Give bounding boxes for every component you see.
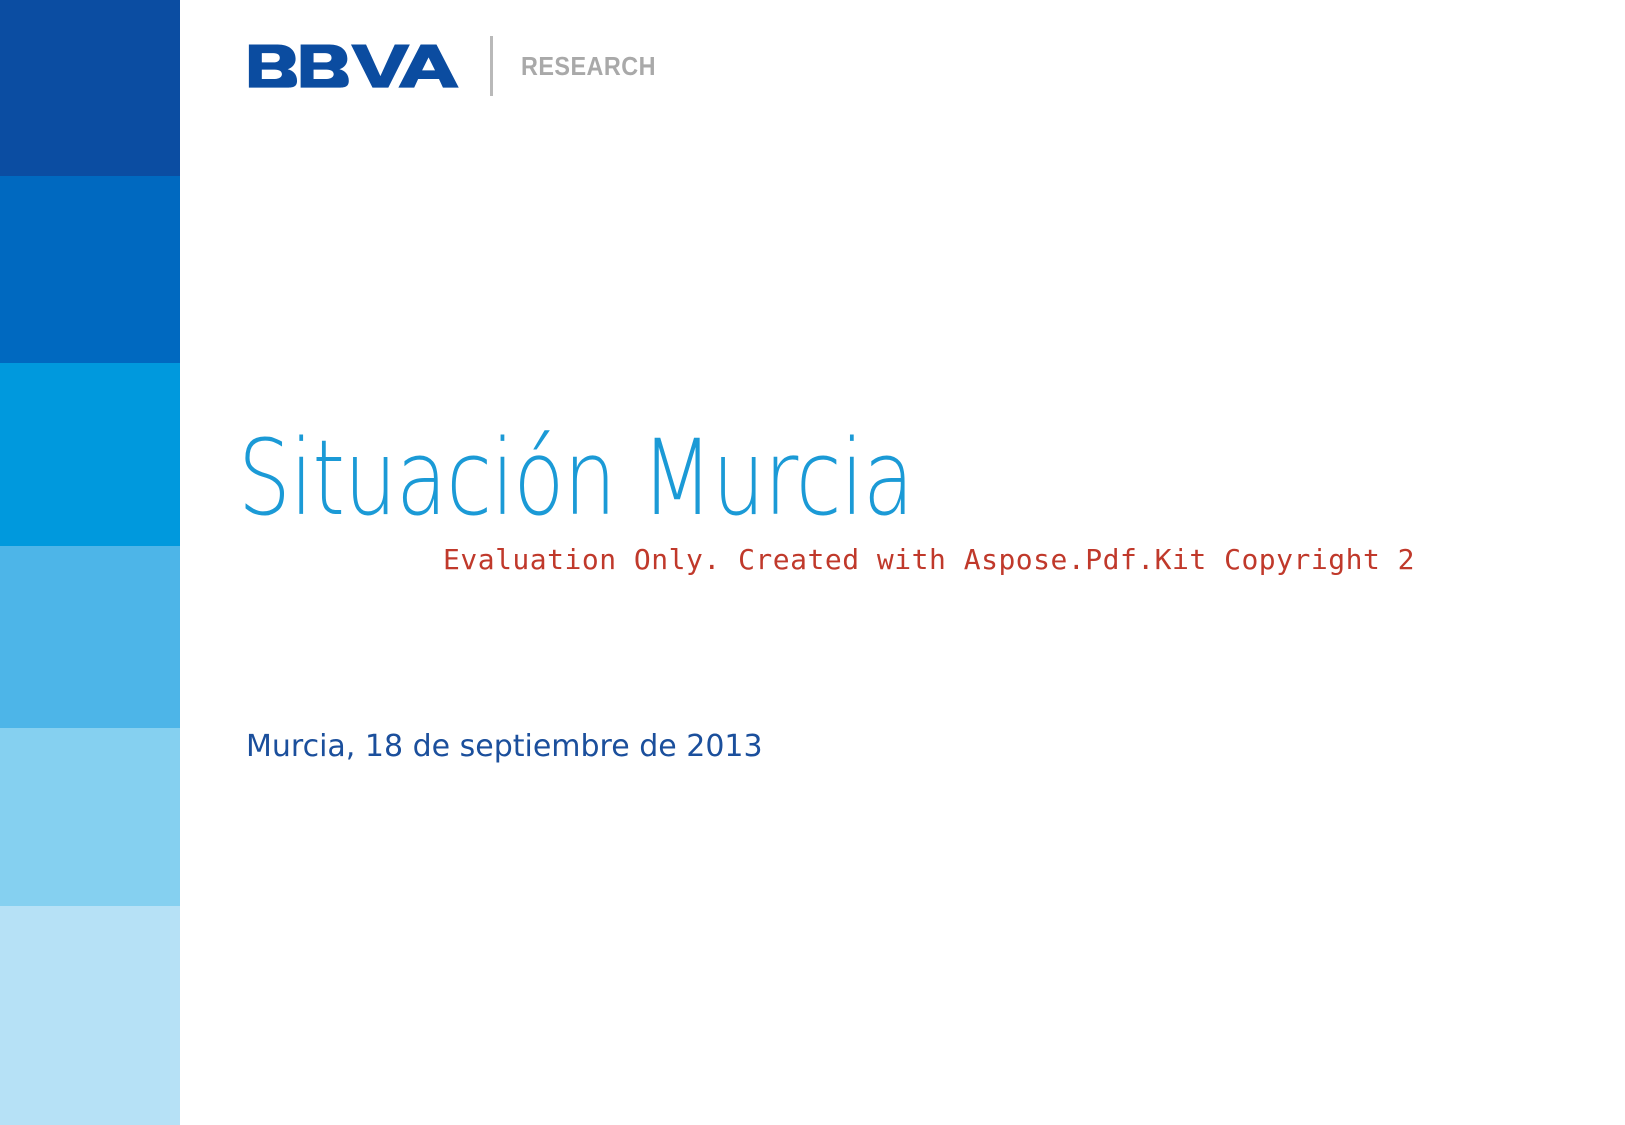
place-and-date: Murcia, 18 de septiembre de 2013 [246,729,763,764]
brand-divider [490,36,493,96]
sidebar-band-3 [0,546,180,728]
slide-canvas: RESEARCH Situación Murcia Evaluation Onl… [0,0,1625,1125]
evaluation-watermark: Evaluation Only. Created with Aspose.Pdf… [443,543,1625,576]
sidebar-color-strip [0,0,180,1125]
brand-lockup: RESEARCH [246,36,671,96]
sidebar-band-4 [0,728,180,906]
sidebar-band-0 [0,0,180,176]
research-label: RESEARCH [521,51,656,82]
bbva-logo-icon [246,43,462,89]
sidebar-band-2 [0,363,180,546]
sidebar-band-1 [0,176,180,363]
sidebar-band-5 [0,906,180,1125]
page-title: Situación Murcia [238,426,913,530]
